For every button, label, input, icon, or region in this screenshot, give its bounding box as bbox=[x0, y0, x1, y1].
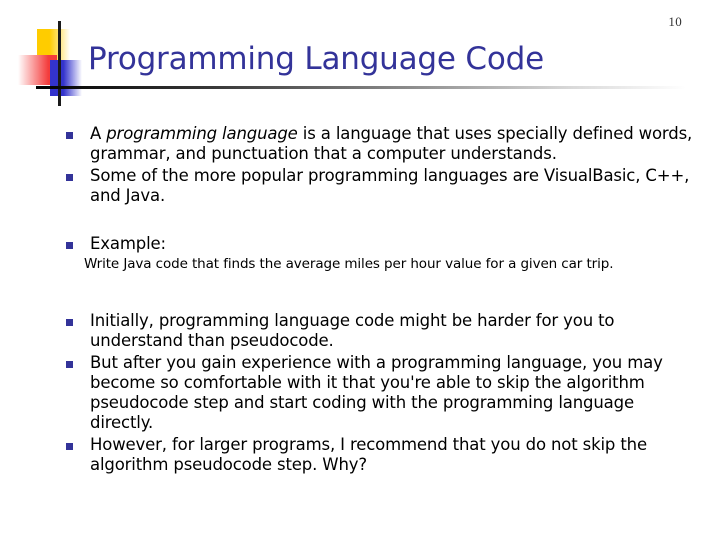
example-detail-text: Write Java code that finds the average m… bbox=[62, 256, 698, 273]
bullet-item-4: Initially, programming language code mig… bbox=[62, 311, 698, 351]
bullet-item-2: Some of the more popular programming lan… bbox=[62, 166, 698, 206]
bullet-square-icon bbox=[66, 132, 73, 139]
bullet-item-3: Example: bbox=[62, 234, 698, 254]
title-underline-rule bbox=[36, 86, 686, 89]
bullet-text-1: A programming language is a language tha… bbox=[90, 124, 698, 164]
bullet-square-icon bbox=[66, 242, 73, 249]
logo-blue-square bbox=[50, 60, 82, 96]
page-title: Programming Language Code bbox=[88, 41, 544, 77]
bullet-text-2: Some of the more popular programming lan… bbox=[90, 166, 698, 206]
bullet-text-6: However, for larger programs, I recommen… bbox=[90, 435, 698, 475]
bullet-square-icon bbox=[66, 361, 73, 368]
spacer-1 bbox=[62, 208, 698, 234]
bullet-text-5: But after you gain experience with a pro… bbox=[90, 353, 698, 433]
bullet-item-5: But after you gain experience with a pro… bbox=[62, 353, 698, 433]
bullet-1-lead: A bbox=[90, 124, 106, 143]
slide-body: A programming language is a language tha… bbox=[62, 124, 698, 477]
bullet-square-icon bbox=[66, 319, 73, 326]
spacer-2 bbox=[62, 273, 698, 299]
bullet-square-icon bbox=[66, 174, 73, 181]
logo-vertical-rule-icon bbox=[58, 21, 61, 106]
bullet-item-6: However, for larger programs, I recommen… bbox=[62, 435, 698, 475]
bullet-text-3: Example: bbox=[90, 234, 698, 254]
bullet-1-italic: programming language bbox=[106, 124, 297, 143]
bullet-item-1: A programming language is a language tha… bbox=[62, 124, 698, 164]
bullet-square-icon bbox=[66, 443, 73, 450]
slide-number: 10 bbox=[668, 14, 682, 30]
slide-root: { "slide": { "number": "10", "title": "P… bbox=[0, 0, 720, 540]
spacer-3 bbox=[62, 299, 698, 311]
bullet-text-4: Initially, programming language code mig… bbox=[90, 311, 698, 351]
